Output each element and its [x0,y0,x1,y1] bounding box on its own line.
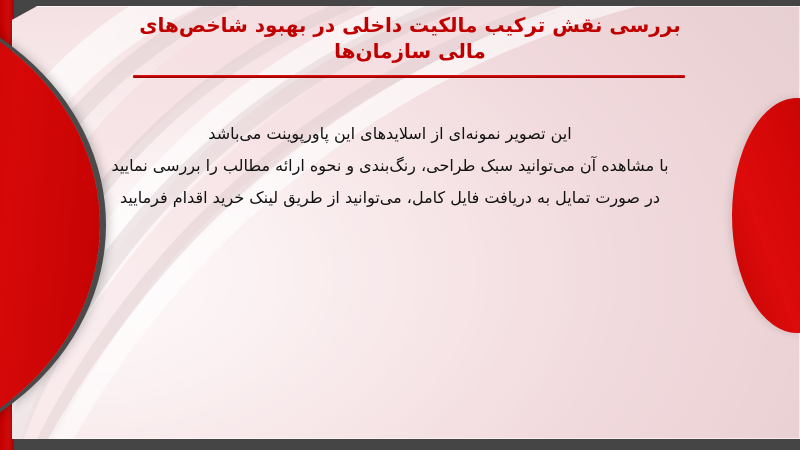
slide-canvas: بررسی نقش ترکیب مالکیت داخلی در بهبود شا… [0,0,800,450]
slide-body-line-3: در صورت تمایل به دریافت فایل کامل، می‌تو… [40,182,740,214]
slide-body-line-2: با مشاهده آن می‌توانید سبک طراحی، رنگ‌بن… [40,150,740,182]
slide-title-line-1: بررسی نقش ترکیب مالکیت داخلی در بهبود شا… [120,12,700,38]
slide-title: بررسی نقش ترکیب مالکیت داخلی در بهبود شا… [120,12,700,64]
slide-body-line-1: این تصویر نمونه‌ای از اسلایدهای این پاور… [40,118,740,150]
slide-body-text: این تصویر نمونه‌ای از اسلایدهای این پاور… [40,118,740,214]
title-divider-rule [133,75,685,78]
slide-title-line-2: مالی سازمان‌ها [120,38,700,64]
slide-content-panel [12,6,800,439]
